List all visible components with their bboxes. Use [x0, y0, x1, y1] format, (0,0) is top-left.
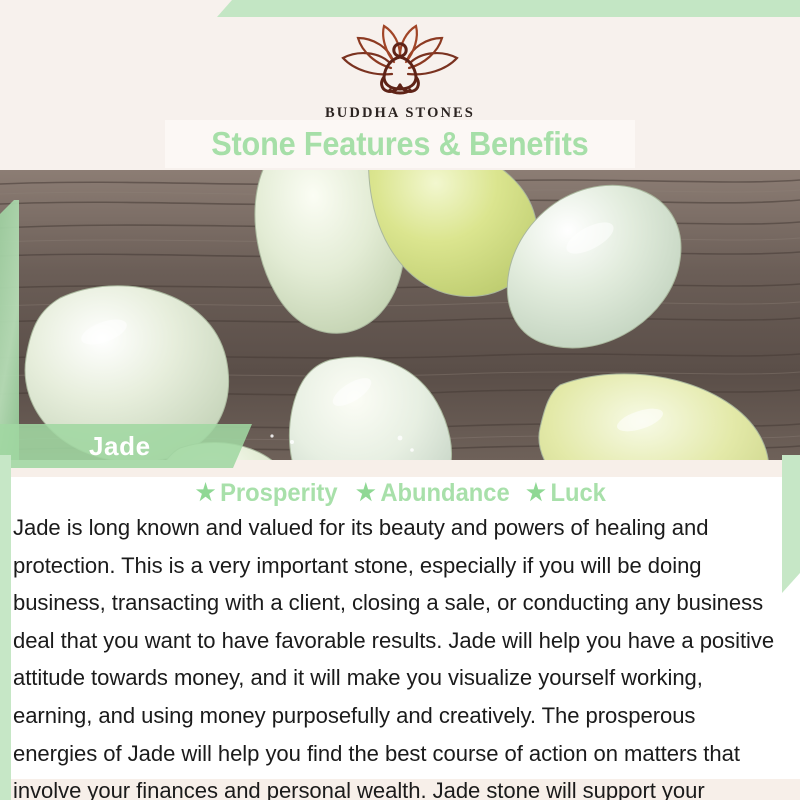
benefit-prosperity: ★ Prosperity: [196, 479, 338, 508]
top-accent-band: [0, 0, 800, 17]
infographic-card: BUDDHA STONES Stone Features & Benefits: [0, 0, 800, 800]
stone-name-label: Jade: [89, 431, 151, 462]
benefits-row: ★ Prosperity ★ Abundance ★ Luck: [0, 479, 800, 508]
lotus-meditation-icon: [334, 24, 466, 102]
right-edge-accent: [782, 455, 800, 593]
benefit-abundance: ★ Abundance: [356, 479, 510, 508]
star-icon: ★: [196, 481, 216, 504]
benefit-label: Abundance: [380, 479, 509, 508]
page-title: Stone Features & Benefits: [211, 125, 588, 163]
benefit-label: Prosperity: [221, 479, 338, 508]
benefit-label: Luck: [550, 479, 605, 508]
section-title-plate: Stone Features & Benefits: [165, 120, 635, 168]
stone-photo: [0, 170, 800, 460]
star-icon: ★: [526, 481, 546, 504]
photo-left-accent-bar: [0, 200, 19, 462]
description-text: Jade is long known and valued for its be…: [13, 509, 779, 800]
star-icon: ★: [356, 481, 376, 504]
benefit-luck: ★ Luck: [526, 479, 606, 508]
stone-name-ribbon: Jade: [0, 424, 252, 468]
